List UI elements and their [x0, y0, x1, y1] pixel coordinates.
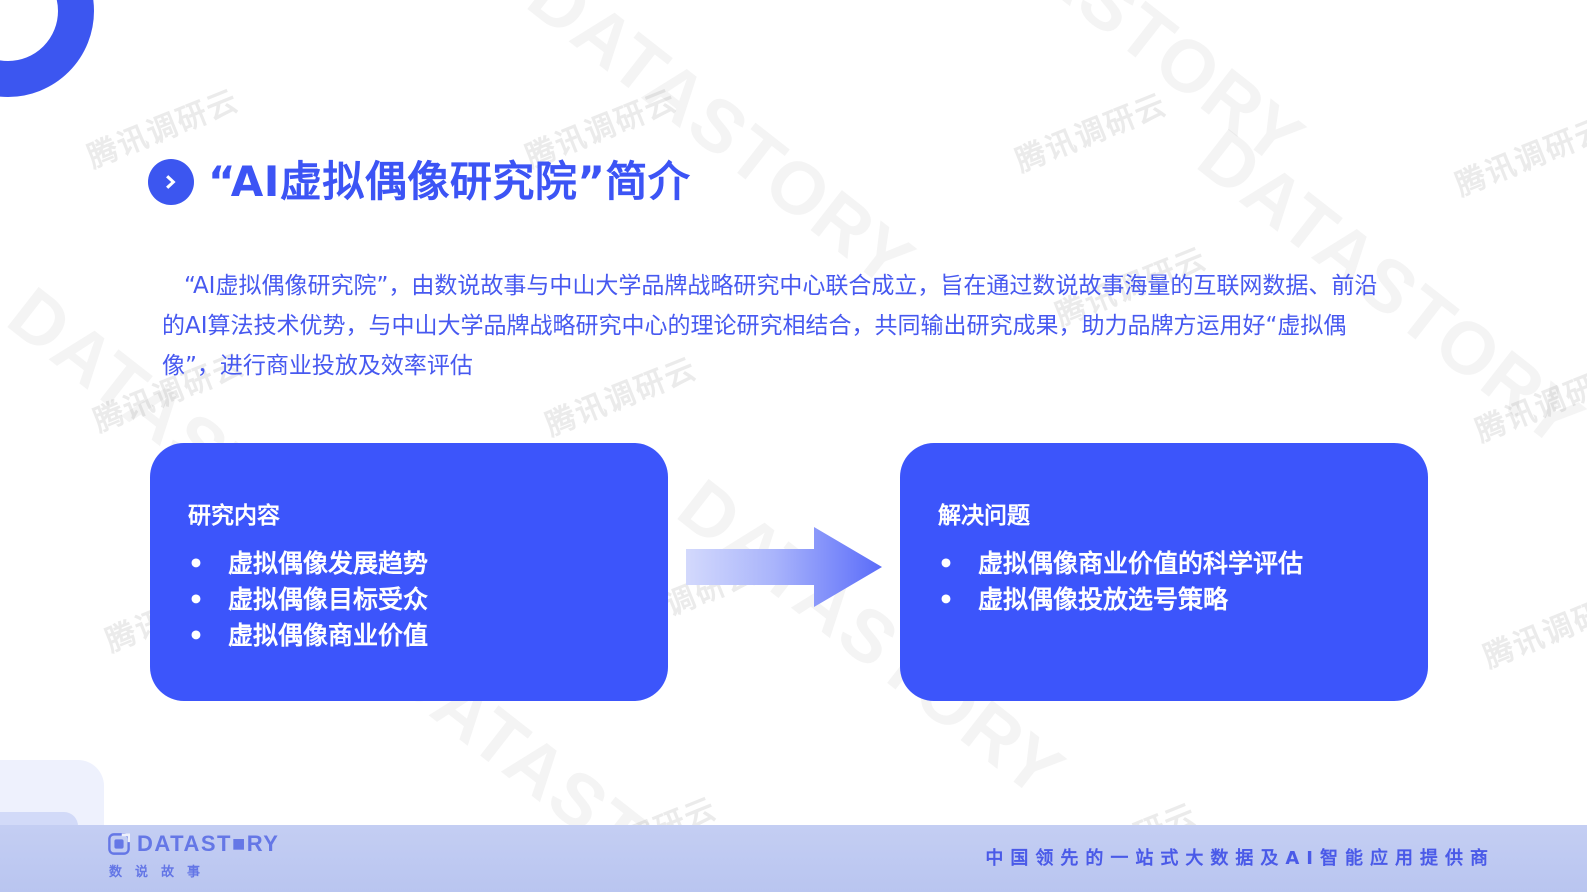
footer-tagline: 中国领先的一站式大数据及AI智能应用提供商	[985, 844, 1495, 870]
card-bullet-list: •虚拟偶像发展趋势•虚拟偶像目标受众•虚拟偶像商业价值	[188, 546, 668, 654]
flow-arrow-right	[686, 525, 882, 609]
datastory-subtitle: 数说故事	[109, 861, 279, 880]
slide-root: DATASTORYDATASTORYDATASTORYDATASTORYDATA…	[0, 0, 1587, 892]
list-item: •虚拟偶像投放选号策略	[938, 582, 1428, 618]
card-title: 解决问题	[938, 505, 1428, 528]
bullet-icon: •	[188, 618, 228, 654]
chevron-right-icon	[148, 159, 194, 205]
page-title: “AI虚拟偶像研究院”简介	[208, 161, 690, 203]
list-item-label: 虚拟偶像商业价值的科学评估	[978, 546, 1303, 582]
bullet-icon: •	[938, 582, 978, 618]
bullet-icon: •	[188, 582, 228, 618]
watermark-latin: DATASTORY	[903, 0, 1320, 183]
card-problems-solved: 解决问题 •虚拟偶像商业价值的科学评估•虚拟偶像投放选号策略	[900, 443, 1428, 701]
list-item-label: 虚拟偶像投放选号策略	[978, 582, 1228, 618]
decorative-ring-top-left	[0, 0, 94, 97]
watermark-chinese: 腾讯调研云	[1448, 104, 1587, 205]
list-item: •虚拟偶像商业价值	[188, 618, 668, 654]
intro-paragraph: “AI虚拟偶像研究院”，由数说故事与中山大学品牌战略研究中心联合成立，旨在通过数…	[162, 266, 1387, 386]
bullet-icon: •	[188, 546, 228, 582]
card-research-content: 研究内容 •虚拟偶像发展趋势•虚拟偶像目标受众•虚拟偶像商业价值	[150, 443, 668, 701]
list-item-label: 虚拟偶像商业价值	[228, 618, 428, 654]
list-item-label: 虚拟偶像发展趋势	[228, 546, 428, 582]
watermark-chinese: 腾讯调研云	[1476, 576, 1587, 677]
watermark-chinese: 腾讯调研云	[1008, 80, 1173, 181]
list-item: •虚拟偶像目标受众	[188, 582, 668, 618]
datastory-logo: DATAST■RY 数说故事	[108, 833, 279, 880]
list-item: •虚拟偶像商业价值的科学评估	[938, 546, 1428, 582]
list-item: •虚拟偶像发展趋势	[188, 546, 668, 582]
page-title-row: “AI虚拟偶像研究院”简介	[148, 159, 690, 205]
watermark-latin: DATASTORY	[513, 0, 930, 305]
watermark-chinese: 腾讯调研云	[1468, 350, 1587, 451]
bullet-icon: •	[938, 546, 978, 582]
card-title: 研究内容	[188, 505, 668, 528]
list-item-label: 虚拟偶像目标受众	[228, 582, 428, 618]
card-bullet-list: •虚拟偶像商业价值的科学评估•虚拟偶像投放选号策略	[938, 546, 1428, 618]
datastory-logo-mark	[108, 833, 130, 855]
datastory-wordmark: DATAST■RY	[137, 833, 279, 855]
